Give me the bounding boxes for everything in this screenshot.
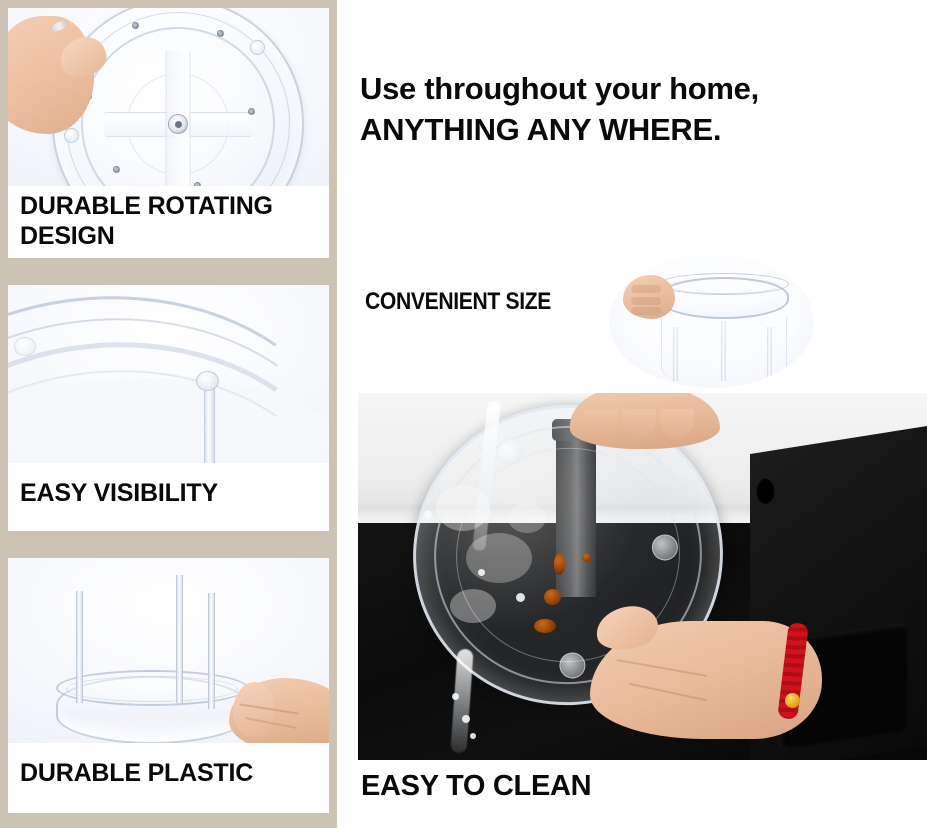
product-infographic: DURABLE ROTATING DESIGN EASY VISIBILITY <box>0 0 927 828</box>
convenient-size-inset-image <box>609 255 814 388</box>
easy-to-clean-photo <box>358 393 927 760</box>
tray-divider-middle <box>176 575 183 703</box>
convenient-size-label: CONVENIENT SIZE <box>365 288 551 316</box>
tray-divider-left <box>76 591 83 703</box>
water-droplet <box>452 693 459 700</box>
turntable-bolt <box>132 22 139 29</box>
turntable-bolt <box>113 166 120 173</box>
hand-holding-turntable <box>8 16 94 134</box>
upper-hand <box>570 393 720 449</box>
inset-lower-tray <box>661 317 787 387</box>
water-droplet <box>424 511 432 519</box>
hand-crease <box>617 659 708 677</box>
finger <box>631 285 661 293</box>
feature-panel-easy-visibility: EASY VISIBILITY <box>8 285 329 531</box>
feature-panel-durable-rotating-design: DURABLE ROTATING DESIGN <box>8 8 329 258</box>
turntable-center-hub <box>168 114 188 134</box>
tray-nub-right <box>196 371 219 391</box>
food-residue <box>554 553 565 575</box>
panel-caption-durable-rotating-design: DURABLE ROTATING DESIGN <box>8 186 329 258</box>
panel-caption-easy-visibility: EASY VISIBILITY <box>8 463 329 531</box>
food-residue <box>544 589 561 605</box>
tray-nub-left <box>14 337 36 356</box>
right-content-column: Use throughout your home, ANYTHING ANY W… <box>337 0 927 828</box>
water-droplet <box>470 733 476 739</box>
water-droplet <box>516 593 525 602</box>
finger <box>584 409 618 439</box>
hand-crease <box>629 683 708 701</box>
water-droplet <box>478 569 485 576</box>
inset-upper-tray-inner <box>669 278 779 294</box>
headline-line-1: Use throughout your home, <box>360 68 900 109</box>
panel-caption-durable-plastic: DURABLE PLASTIC <box>8 743 329 813</box>
left-feature-column: DURABLE ROTATING DESIGN EASY VISIBILITY <box>0 0 337 828</box>
sink-tap-hole <box>756 477 775 504</box>
hand-holding-tray <box>229 678 329 752</box>
headline-line-2: ANYTHING ANY WHERE. <box>360 109 900 150</box>
turntable-bolt <box>248 108 255 115</box>
water-splash <box>508 503 546 533</box>
water-droplet <box>462 715 470 723</box>
finger-ring <box>50 18 69 33</box>
knuckles <box>233 682 275 738</box>
finger <box>631 297 661 305</box>
turntable-nub <box>64 128 79 143</box>
water-splash <box>436 485 490 531</box>
tray-divider-right <box>208 593 215 709</box>
water-splash <box>466 533 532 583</box>
headline: Use throughout your home, ANYTHING ANY W… <box>360 68 900 150</box>
finger <box>631 307 661 315</box>
food-residue <box>534 619 556 633</box>
finger <box>660 409 694 439</box>
turntable-nub <box>250 40 265 55</box>
finger <box>622 409 656 439</box>
easy-to-clean-caption: EASY TO CLEAN <box>361 770 591 803</box>
water-splash <box>450 589 496 623</box>
inset-hand <box>623 275 675 319</box>
food-residue <box>582 553 591 562</box>
bracelet-gold-bead <box>785 693 800 708</box>
feature-panel-durable-plastic: DURABLE PLASTIC <box>8 558 329 813</box>
turntable-bolt <box>217 30 224 37</box>
